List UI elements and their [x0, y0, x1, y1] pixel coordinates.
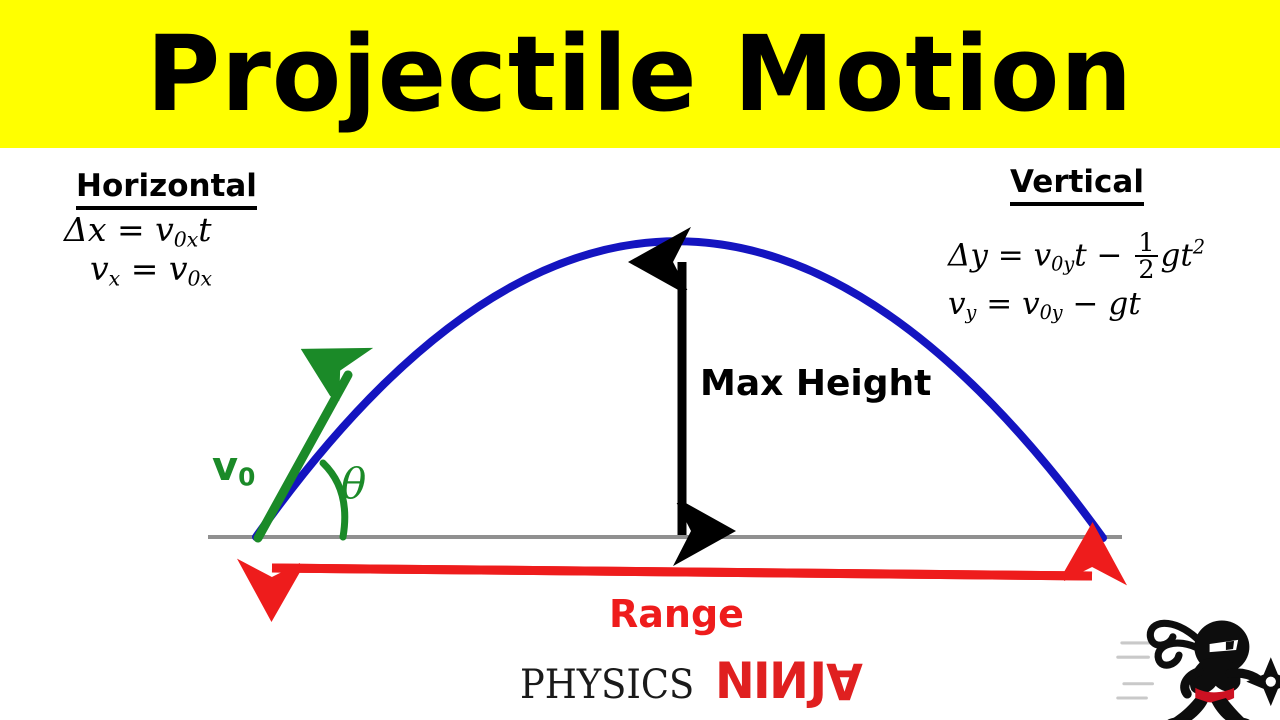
ninja-letter-j: J	[810, 652, 827, 710]
angle-label: θ	[341, 459, 366, 508]
headband-tail-lower	[1158, 643, 1199, 665]
velocity-label-subscript: 0	[238, 462, 255, 491]
velocity-vector-arrow	[258, 375, 348, 538]
brand-ninja-text: NINJA	[715, 652, 862, 710]
range-label: Range	[609, 592, 744, 636]
velocity-label: v0	[212, 444, 255, 491]
ninja-letter-n2: N	[771, 652, 810, 710]
ninja-letter-a: A	[827, 652, 863, 710]
max-height-label: Max Height	[700, 363, 931, 404]
ninja-letter-i1: I	[754, 652, 771, 710]
ninja-leg-left	[1173, 698, 1208, 720]
velocity-label-symbol: v	[212, 444, 238, 490]
shuriken-icon	[1246, 657, 1280, 706]
ninja-leg-right	[1212, 698, 1245, 720]
brand-physics-text: PHYSICS	[520, 662, 694, 708]
range-arrow-right	[272, 568, 1092, 576]
motion-streaks	[1118, 643, 1155, 698]
brand-wordmark: PHYSICS NINJA	[520, 652, 870, 710]
ninja-mascot	[1118, 620, 1280, 720]
ninja-letter-n1: N	[715, 652, 754, 710]
ninja-eye	[1226, 641, 1234, 650]
